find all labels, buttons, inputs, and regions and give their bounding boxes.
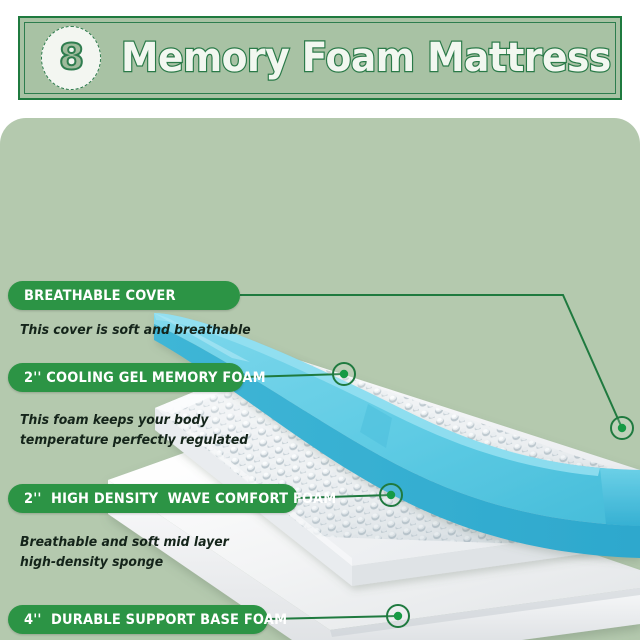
marker-base-foam xyxy=(387,605,409,627)
main-panel: BREATHABLE COVER This cover is soft and … xyxy=(0,118,640,640)
page-title: Memory Foam Mattress xyxy=(121,38,611,78)
marker-breathable-cover xyxy=(611,417,633,439)
description-cooling-gel-memory-foam: This foam keeps your body temperature pe… xyxy=(20,411,248,450)
header-banner: 8 Memory Foam Mattress xyxy=(18,16,622,100)
header-banner-inner: 8 Memory Foam Mattress xyxy=(24,22,616,94)
label-cooling-gel-memory-foam-text: 2'' COOLING GEL MEMORY FOAM xyxy=(24,370,266,386)
badge-number: 8 xyxy=(59,40,83,76)
description-high-density-wave-comfort-foam: Breathable and soft mid layer high-densi… xyxy=(20,533,229,572)
marker-wave-foam xyxy=(380,484,402,506)
label-breathable-cover[interactable]: BREATHABLE COVER xyxy=(8,281,240,310)
step-number-badge: 8 xyxy=(39,23,103,93)
label-high-density-wave-comfort-foam[interactable]: 2'' HIGH DENSITY WAVE COMFORT FOAM xyxy=(8,484,298,513)
marker-cooling-gel xyxy=(333,363,355,385)
label-durable-support-base-foam-text: 4'' DURABLE SUPPORT BASE FOAM xyxy=(24,612,287,628)
label-breathable-cover-text: BREATHABLE COVER xyxy=(24,288,176,304)
label-cooling-gel-memory-foam[interactable]: 2'' COOLING GEL MEMORY FOAM xyxy=(8,363,244,392)
description-breathable-cover: This cover is soft and breathable xyxy=(20,321,251,341)
label-durable-support-base-foam[interactable]: 4'' DURABLE SUPPORT BASE FOAM xyxy=(8,605,268,634)
infographic-root: 8 Memory Foam Mattress xyxy=(0,0,640,640)
label-high-density-wave-comfort-foam-text: 2'' HIGH DENSITY WAVE COMFORT FOAM xyxy=(24,491,336,507)
